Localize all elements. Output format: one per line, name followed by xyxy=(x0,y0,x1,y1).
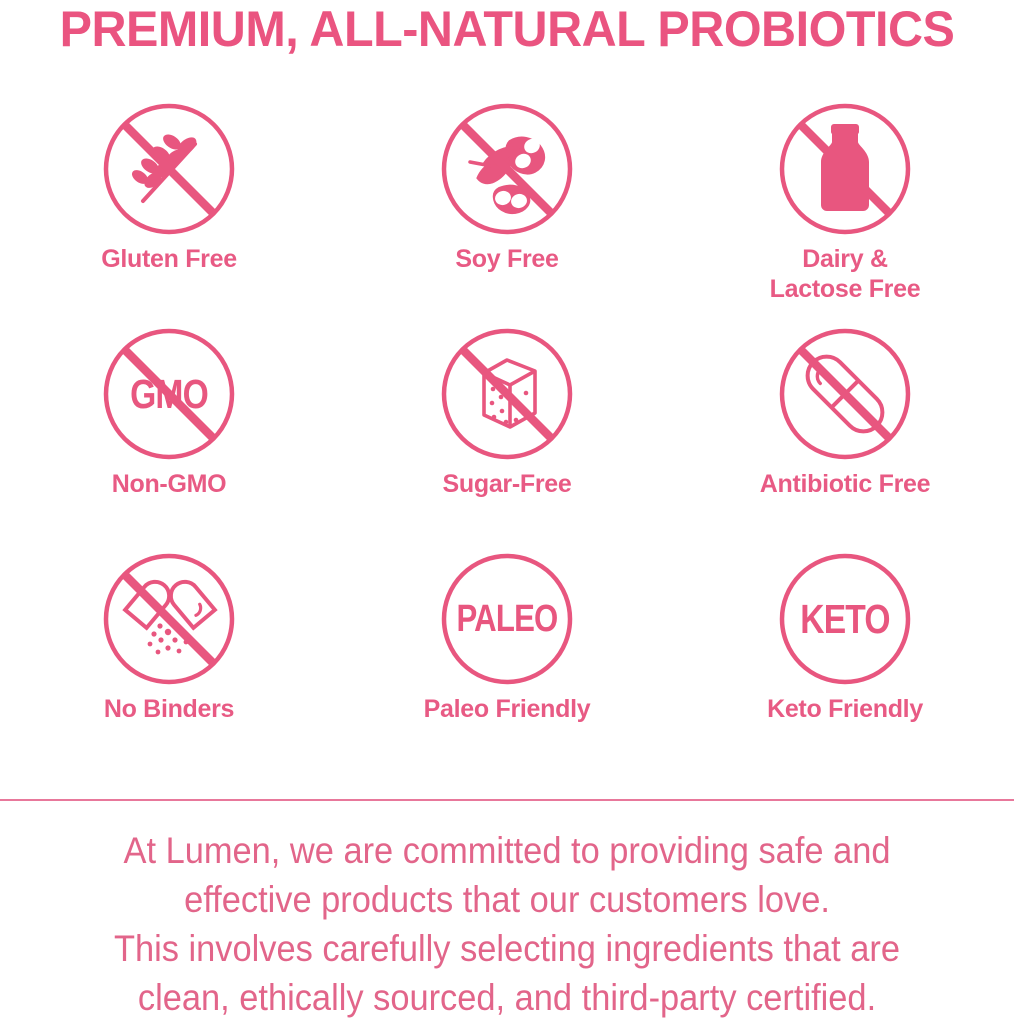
badge-dairy-lactose-free[interactable]: Dairy & Lactose Free xyxy=(676,88,1014,313)
badge-label: Gluten Free xyxy=(0,244,338,274)
keto-text-icon: KETO xyxy=(778,552,912,686)
badge-row-1: Gluten Free xyxy=(0,88,1014,313)
statement-line-1: At Lumen, we are committed to providing … xyxy=(35,826,978,875)
sugar-cube-icon xyxy=(440,327,574,461)
milk-bottle-icon xyxy=(778,102,912,236)
certification-badge-grid: Gluten Free xyxy=(0,88,1014,763)
badge-label: Keto Friendly xyxy=(676,694,1014,724)
statement-line-3: This involves carefully selecting ingred… xyxy=(35,924,978,973)
badge-row-2: GMO Non-GMO xyxy=(0,313,1014,538)
gmo-text-icon: GMO xyxy=(102,327,236,461)
section-divider xyxy=(0,799,1014,801)
badge-soy-free[interactable]: Soy Free xyxy=(338,88,676,313)
statement-line-2: effective products that our customers lo… xyxy=(35,875,978,924)
badge-label-line-2: Lactose Free xyxy=(770,275,921,303)
open-capsule-powder-icon xyxy=(102,552,236,686)
badge-row-3: No Binders PALEO Paleo Friendly KETO Ket… xyxy=(0,538,1014,763)
capsule-pill-icon xyxy=(778,327,912,461)
badge-label: No Binders xyxy=(0,694,338,724)
badge-sugar-free[interactable]: Sugar-Free xyxy=(338,313,676,538)
badge-no-binders[interactable]: No Binders xyxy=(0,538,338,763)
page-title: PREMIUM, ALL-NATURAL PROBIOTICS xyxy=(15,2,999,56)
badge-label: Paleo Friendly xyxy=(338,694,676,724)
badge-gluten-free[interactable]: Gluten Free xyxy=(0,88,338,313)
badge-keto-friendly[interactable]: KETO Keto Friendly xyxy=(676,538,1014,763)
badge-label: Non-GMO xyxy=(0,469,338,499)
badge-non-gmo[interactable]: GMO Non-GMO xyxy=(0,313,338,538)
brand-statement: At Lumen, we are committed to providing … xyxy=(35,826,978,1022)
badge-label: Antibiotic Free xyxy=(676,469,1014,499)
badge-label: Soy Free xyxy=(338,244,676,274)
badge-label: Sugar-Free xyxy=(338,469,676,499)
badge-label-line-1: Dairy & xyxy=(802,245,887,273)
statement-line-4: clean, ethically sourced, and third-part… xyxy=(35,973,978,1022)
soybean-pod-icon xyxy=(440,102,574,236)
badge-label: Dairy & Lactose Free xyxy=(676,244,1014,304)
badge-paleo-friendly[interactable]: PALEO Paleo Friendly xyxy=(338,538,676,763)
wheat-stalk-icon xyxy=(102,102,236,236)
paleo-text-icon: PALEO xyxy=(440,552,574,686)
badge-antibiotic-free[interactable]: Antibiotic Free xyxy=(676,313,1014,538)
